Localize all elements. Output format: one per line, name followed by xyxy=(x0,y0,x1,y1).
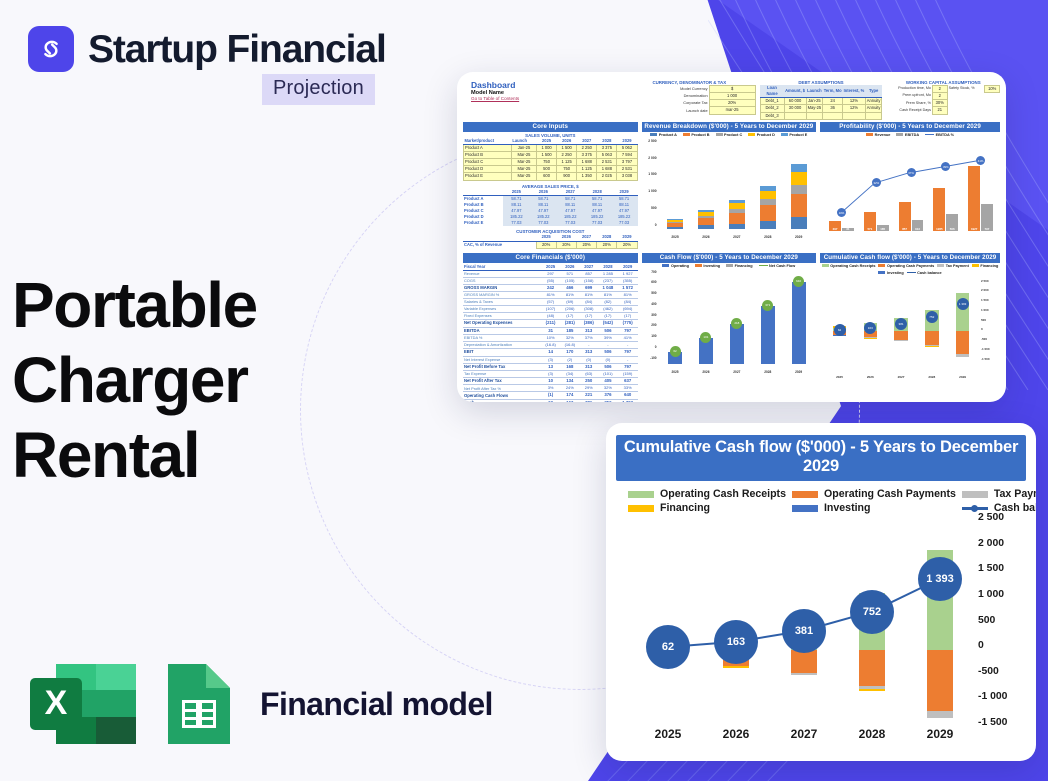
y-tick: 0 xyxy=(655,345,657,349)
x-tick: 2027 xyxy=(770,727,838,741)
legend-item: Operating Cash Receipts xyxy=(628,488,786,500)
cell-value: 466 xyxy=(560,284,579,291)
column-header: 2028 xyxy=(584,189,611,196)
data-point-node: 39% xyxy=(941,162,950,171)
cell-value: (159) xyxy=(618,371,638,378)
cash-balance-node: 163 xyxy=(714,620,758,664)
column-header xyxy=(463,234,536,241)
cell xyxy=(843,112,866,119)
core-financials-band: Core Financials ($'000) xyxy=(463,253,638,263)
cell: 3 797 xyxy=(617,159,637,166)
column-header: 2025 xyxy=(536,234,556,241)
cell-value: (16.8) xyxy=(560,342,579,349)
cell-value: (105) xyxy=(560,277,579,284)
legend-swatch xyxy=(962,507,988,510)
data-point-node: 37% xyxy=(907,168,916,177)
cell-value: (84) xyxy=(618,299,638,306)
cell-value: 797 xyxy=(618,363,638,370)
cell-value: 242 xyxy=(541,284,560,291)
cell-value: 33% xyxy=(618,385,638,392)
legend-swatch xyxy=(628,505,654,512)
data-point-node: 218 xyxy=(731,318,742,329)
cell: 1 500 xyxy=(537,151,557,158)
row-label: EBITDA % xyxy=(463,335,541,342)
cell: Mar-25 xyxy=(511,151,536,158)
cell: Jan-25 xyxy=(806,98,823,105)
table-row: Prem Share, %30% xyxy=(886,100,999,107)
legend-swatch xyxy=(925,134,934,135)
cell-value: (211) xyxy=(541,320,560,327)
column-header: 2026 xyxy=(556,234,576,241)
cell-value: 170 xyxy=(560,349,579,356)
legend-swatch xyxy=(695,264,702,267)
table-row: Variable Expenses(107)(206)(308)(462)(69… xyxy=(463,306,638,313)
cell: 2 250 xyxy=(577,144,597,151)
table-row: Denomination1 000 xyxy=(623,93,755,100)
column-header: Launch xyxy=(511,138,536,145)
legend-item: Cash balance xyxy=(907,271,942,275)
cell: Annuity xyxy=(865,98,882,105)
bar-segment xyxy=(791,650,817,673)
column-header: Loan Name xyxy=(760,85,784,98)
column-header: 2026 xyxy=(530,189,557,196)
cell-value: (542) xyxy=(598,320,618,327)
cell-value: 30% xyxy=(932,100,947,107)
legend-label: Product E xyxy=(789,133,807,137)
row-label: Net Profit After Tax xyxy=(463,378,541,385)
cell: Debt_1 xyxy=(760,98,784,105)
cell: 1 688 xyxy=(597,166,617,173)
dashboard-preview-card[interactable]: Dashboard Model Name Go to Table of Cont… xyxy=(457,72,1006,402)
page-title-line-1: Portable xyxy=(12,268,257,343)
legend-item: Financing xyxy=(726,264,752,268)
cash-balance-node: 752 xyxy=(850,590,894,634)
cell: Product A xyxy=(464,144,512,151)
cumulative-cashflow-plot: 2 5002 0001 5001 0005000-500-1 000-1 500… xyxy=(634,522,974,727)
page-title: Portable Charger Rental xyxy=(12,268,257,493)
y-tick: 500 xyxy=(978,615,995,626)
cell: 900 xyxy=(557,173,577,180)
data-point-node: 62 xyxy=(670,346,681,357)
mini-chart-title-profitability: Profitability ($'000) - 5 Years to Decem… xyxy=(820,122,1000,132)
legend-item: Investing xyxy=(695,264,720,268)
data-point-node: 371 xyxy=(762,300,773,311)
y-tick: -500 xyxy=(981,337,987,341)
legend-label: Investing xyxy=(824,502,871,514)
cell-value: (17) xyxy=(560,313,579,320)
cash-balance-node: 62 xyxy=(646,625,690,669)
cell-value: 81% xyxy=(560,292,579,299)
cell: 7 594 xyxy=(617,151,637,158)
cell-value-extra: 10% xyxy=(985,86,1000,93)
y-tick: 0 xyxy=(655,223,657,227)
x-tick: 2029 xyxy=(947,375,978,379)
table-row: Production time, Mo2Safety Stock, %10% xyxy=(886,86,999,93)
table-row: CAC, % of Revenue20%20%20%20%20% xyxy=(463,241,637,248)
table-row: Debt_160 000Jan-252412%Annuity xyxy=(760,98,882,105)
y-tick: 1 500 xyxy=(981,298,989,302)
column-header: Market/product xyxy=(464,138,512,145)
legend-item: Tax Payment xyxy=(962,488,1036,500)
x-tick: 2025 xyxy=(824,375,855,379)
y-axis-labels: 2 5002 0001 5001 0005000-500-1 000-1 500 xyxy=(976,518,1024,730)
cell: 12% xyxy=(843,105,866,112)
brand-subtitle-chip: Projection xyxy=(262,74,375,105)
debt-assumptions-table: Loan NameAmount, $LaunchTerm, MoInterest… xyxy=(760,85,883,120)
y-tick: 200 xyxy=(651,323,656,327)
data-point-node: 32% xyxy=(872,178,881,187)
stacked-bar xyxy=(791,164,807,229)
y-tick: 1 500 xyxy=(648,172,656,176)
cell-value: (1) xyxy=(541,392,560,399)
cell-value: 313 xyxy=(579,363,598,370)
cell-value: - xyxy=(618,356,638,363)
y-tick: 1 000 xyxy=(978,589,1004,600)
row-label: COGS xyxy=(463,277,541,284)
bar-segment xyxy=(791,194,807,217)
cell-value: 571 xyxy=(560,270,579,277)
dashboard-title: Dashboard xyxy=(471,80,619,90)
row-label: GROSS MARGIN % xyxy=(463,292,541,299)
cell-label: CAC, % of Revenue xyxy=(463,241,536,248)
mini-chart-title-cashflow: Cash Flow ($'000) - 5 Years to December … xyxy=(642,253,817,263)
cell-value: (57) xyxy=(541,299,560,306)
stacked-bar xyxy=(667,219,683,229)
cell-value: (101) xyxy=(598,371,618,378)
y-tick: 1 000 xyxy=(981,308,989,312)
legend-label: Operating Cash Payments xyxy=(824,488,956,500)
legend-swatch xyxy=(726,264,733,267)
cell-value: 797 xyxy=(618,327,638,334)
cell-value: 376 xyxy=(598,392,618,399)
cell: Product B xyxy=(464,151,512,158)
cell-value: 381 xyxy=(579,399,598,402)
cell-value: (3) xyxy=(541,356,560,363)
legend-item: EBITDA xyxy=(896,133,919,137)
y-tick: -1 000 xyxy=(981,347,990,351)
cell-value: 2 xyxy=(932,93,947,100)
y-tick: 500 xyxy=(651,206,657,210)
page-title-line-2: Charger xyxy=(12,343,257,418)
cell: 1 000 xyxy=(537,144,557,151)
legend-label: EBITDA % xyxy=(936,133,954,137)
cell: 24 xyxy=(823,98,843,105)
y-tick: -500 xyxy=(978,666,999,677)
y-tick: 700 xyxy=(651,270,656,274)
legend-label: Product D xyxy=(757,133,775,137)
legend-label: Financing xyxy=(980,264,998,268)
x-tick: 2027 xyxy=(721,370,752,374)
cell: 600 xyxy=(537,173,557,180)
cell xyxy=(806,112,823,119)
data-point-node: 62 xyxy=(834,324,846,336)
bar-group xyxy=(906,522,974,727)
cell-value: (0) xyxy=(579,356,598,363)
column-header: 2026 xyxy=(560,264,579,271)
x-tick: 2028 xyxy=(752,235,783,239)
bar-segment xyxy=(698,225,714,228)
table-row: Prem upfront, Mo2 xyxy=(886,93,999,100)
table-row: COGS(55)(105)(158)(237)(355) xyxy=(463,277,638,284)
cell: Product E xyxy=(464,173,512,180)
cell-value: 37% xyxy=(579,335,598,342)
cell-value: (107) xyxy=(541,306,560,313)
cell-value: 13 xyxy=(541,363,560,370)
y-tick: 0 xyxy=(978,640,984,651)
legend-label: Revenue xyxy=(875,133,891,137)
x-tick: 2028 xyxy=(752,370,783,374)
data-point-node: 41% xyxy=(976,156,985,165)
bar-group xyxy=(660,145,691,229)
x-tick: 2029 xyxy=(783,235,814,239)
y-tick: 2 500 xyxy=(981,279,989,283)
table-row: Product E77.0377.0377.0377.0377.03 xyxy=(463,220,638,226)
cell-value: 1 285 xyxy=(598,270,618,277)
x-tick: 2029 xyxy=(906,727,974,741)
table-row: Fixed Expenses(48)(17)(17)(17)(17) xyxy=(463,313,638,320)
x-tick: 2028 xyxy=(838,727,906,741)
cell-value: 20% xyxy=(617,241,637,248)
cell-value: (55) xyxy=(541,277,560,284)
x-tick: 2026 xyxy=(702,727,770,741)
cell-value: 313 xyxy=(579,349,598,356)
cell-value: 405 xyxy=(598,378,618,385)
legend-label: Cash balance xyxy=(917,271,941,275)
cell-value: 20% xyxy=(597,241,617,248)
cell-label: Launch date xyxy=(623,107,709,114)
bar-segment xyxy=(859,650,885,686)
cell: 1 500 xyxy=(557,144,577,151)
y-tick: 2 500 xyxy=(648,139,656,143)
cell-label: Prem Share, % xyxy=(886,100,932,107)
column-header: 2025 xyxy=(541,264,560,271)
legend-swatch xyxy=(716,133,723,136)
table-row: EBIT14170313506797 xyxy=(463,349,638,356)
table-row: Product EMar-256009001 3502 0253 038 xyxy=(464,173,638,180)
cell: 58.71 xyxy=(503,195,530,202)
cell-value: (3) xyxy=(541,371,560,378)
column-header: 2027 xyxy=(577,138,597,145)
row-label: Net Profit Before Tax xyxy=(463,363,541,370)
legend-item: Tax Payment xyxy=(937,264,969,268)
cell-value: 41% xyxy=(618,335,638,342)
data-point-node: 10% xyxy=(837,208,846,217)
mini-chart-title-revenue: Revenue Breakdown ($'000) - 5 Years to D… xyxy=(642,122,817,132)
cell: 1 688 xyxy=(577,159,597,166)
y-tick: 1 000 xyxy=(648,189,656,193)
cell-value: 1 393 xyxy=(618,399,638,402)
cell-label: Cash Receipt Days xyxy=(886,107,932,114)
bar-group xyxy=(783,145,814,229)
cell: 500 xyxy=(537,166,557,173)
legend-item: Product B xyxy=(683,133,710,137)
cell: 3 375 xyxy=(577,151,597,158)
stacked-bar xyxy=(760,186,776,229)
legend-swatch xyxy=(866,133,873,136)
cell-value: 797 xyxy=(618,349,638,356)
y-tick: 300 xyxy=(651,313,656,317)
legend-swatch xyxy=(962,491,988,498)
table-row: EBITDA31185313506797 xyxy=(463,327,638,334)
y-tick: -1 000 xyxy=(978,691,1007,702)
mini-chart-legend-cumulative: Operating Cash ReceiptsOperating Cash Pa… xyxy=(820,264,1000,275)
bar-segment xyxy=(927,650,953,710)
row-label: Revenue xyxy=(463,270,541,277)
stacked-bar xyxy=(729,200,745,229)
legend-item: Operating Cash Payments xyxy=(878,264,934,268)
cash-balance-node: 1 393 xyxy=(918,557,962,601)
cumulative-cashflow-title: Cumulative Cash flow ($'000) - 5 Years t… xyxy=(616,435,1026,481)
table-row: EBITDA %10%32%37%39%41% xyxy=(463,335,638,342)
legend-swatch xyxy=(781,133,788,136)
x-tick: 2027 xyxy=(721,235,752,239)
cell-value: 21 xyxy=(932,107,947,114)
cell-value: 857 xyxy=(579,270,598,277)
x-tick: 2027 xyxy=(886,375,917,379)
cumulative-cashflow-legend: Operating Cash ReceiptsOperating Cash Pa… xyxy=(616,481,1026,518)
table-row: Model Currency$ xyxy=(623,86,755,93)
y-tick: -1 500 xyxy=(978,717,1007,728)
row-label: Net Profit After Tax % xyxy=(463,385,541,392)
y-tick: 2 000 xyxy=(981,288,989,292)
table-row: Tax Expense(3)(34)(63)(101)(159) xyxy=(463,371,638,378)
cell-value: - xyxy=(618,342,638,349)
cell: 58.71 xyxy=(584,195,611,202)
column-header: 2028 xyxy=(597,234,617,241)
cell-value: 81% xyxy=(598,292,618,299)
column-header: 2025 xyxy=(537,138,557,145)
column-header: Interest, % xyxy=(843,85,866,98)
microsoft-excel-icon: X xyxy=(28,662,138,746)
table-row: Revenue2975718571 2851 927 xyxy=(463,270,638,277)
data-point-node: 101 xyxy=(700,332,711,343)
cell: Jan-25 xyxy=(511,144,536,151)
cell-value: 20% xyxy=(556,241,576,248)
legend-swatch xyxy=(822,264,829,267)
legend-item: Operating xyxy=(662,264,688,268)
bar-segment xyxy=(667,227,683,229)
row-label: Net Interest Expense xyxy=(463,356,541,363)
legend-item: Product A xyxy=(650,133,677,137)
mini-chart-legend-cashflow: OperatingInvestingFinancingNet Cash Flow xyxy=(642,264,817,268)
cell-value: (281) xyxy=(560,320,579,327)
y-tick: -100 xyxy=(650,356,656,360)
cell-label: Production time, Mo xyxy=(886,86,932,93)
cell-value: 1 000 xyxy=(709,93,755,100)
cell-value: (48) xyxy=(541,313,560,320)
row-label: Variable Expenses xyxy=(463,306,541,313)
cell-value: (17) xyxy=(598,313,618,320)
cell: 3 038 xyxy=(617,173,637,180)
table-row: Corporate Tax20% xyxy=(623,100,755,107)
legend-swatch xyxy=(878,271,885,274)
bar-segment xyxy=(791,172,807,185)
cell: 2 025 xyxy=(597,173,617,180)
data-point-node: 381 xyxy=(895,318,907,330)
cell: 77.03 xyxy=(503,220,530,226)
table-row: Product CMar-257501 1251 6882 5313 797 xyxy=(464,159,638,166)
column-header xyxy=(463,189,503,196)
legend-swatch xyxy=(650,133,657,136)
cell xyxy=(865,112,882,119)
mini-chart-legend-revenue: Product AProduct BProduct CProduct DProd… xyxy=(642,133,817,137)
column-header: Fiscal Year xyxy=(463,264,541,271)
y-tick: 2 000 xyxy=(978,538,1004,549)
column-header: 2025 xyxy=(503,189,530,196)
legend-item: Net Cash Flow xyxy=(759,264,796,268)
table-row: Net Interest Expense(3)(2)(0)(0)- xyxy=(463,356,638,363)
bar-group xyxy=(690,145,721,229)
google-sheets-icon xyxy=(160,662,238,746)
cell: 2 531 xyxy=(597,159,617,166)
column-header: 2029 xyxy=(618,264,638,271)
cell: 12% xyxy=(843,98,866,105)
cell-value: 221 xyxy=(579,392,598,399)
brand-name: Startup Financial xyxy=(88,30,386,69)
cell-value: 506 xyxy=(598,327,618,334)
legend-item: Financing xyxy=(628,502,786,514)
x-tick: 2029 xyxy=(783,370,814,374)
cell-value: 81% xyxy=(618,292,638,299)
column-header: Launch xyxy=(806,85,823,98)
cell: 2 250 xyxy=(557,151,577,158)
sales-volume-table: Market/productLaunch20252026202720282029… xyxy=(463,138,638,181)
cell: Mar-25 xyxy=(511,166,536,173)
bar-segment xyxy=(791,164,807,172)
cell xyxy=(784,112,806,119)
cell-value: - xyxy=(598,342,618,349)
y-tick: -1 500 xyxy=(981,357,990,361)
dashboard-toc-link[interactable]: Go to Table of Contents xyxy=(471,96,619,101)
row-label: GROSS MARGIN xyxy=(463,284,541,291)
cell-value: 1 048 xyxy=(598,284,618,291)
cumulative-cashflow-card[interactable]: Cumulative Cash flow ($'000) - 5 Years t… xyxy=(606,423,1036,761)
table-row: Salaries & Taxes(57)(69)(84)(82)(84) xyxy=(463,299,638,306)
cell-value: 32% xyxy=(560,335,579,342)
table-row: Operating Cash Flows(1)174221376640 xyxy=(463,392,638,399)
table-row: Product A58.7158.7158.7158.7158.71 xyxy=(463,195,638,202)
cell-value: 10% xyxy=(541,335,560,342)
core-financials-table: Fiscal Year20252026202720282029 Revenue2… xyxy=(463,264,638,402)
legend-marker xyxy=(971,505,978,512)
legend-swatch xyxy=(683,133,690,136)
cell-value: (82) xyxy=(598,299,618,306)
bar-segment xyxy=(760,205,776,221)
legend-label: Financing xyxy=(735,264,753,268)
cell-value: 10 xyxy=(541,378,560,385)
brand-logo: Startup Financial xyxy=(28,26,386,72)
cell-value: (694) xyxy=(618,306,638,313)
cell: 77.03 xyxy=(557,220,584,226)
legend-item: Investing xyxy=(878,271,903,275)
legend-label: Operating xyxy=(671,264,689,268)
legend-item: EBITDA % xyxy=(925,133,954,137)
cell-value: (16.8) xyxy=(541,342,560,349)
column-header: 2029 xyxy=(611,189,638,196)
data-point-node: 1 393 xyxy=(957,298,969,310)
cell: 77.03 xyxy=(611,220,638,226)
legend-label: Operating Cash Receipts xyxy=(660,488,786,500)
cell: 750 xyxy=(557,166,577,173)
y-tick: 500 xyxy=(651,291,656,295)
row-label: Net Operating Expenses xyxy=(463,320,541,327)
cell-value: 699 xyxy=(579,284,598,291)
y-tick: 400 xyxy=(651,302,656,306)
cell-value: 3% xyxy=(541,385,560,392)
legend-swatch xyxy=(792,491,818,498)
bar-group xyxy=(752,145,783,229)
column-header: 2027 xyxy=(576,234,596,241)
